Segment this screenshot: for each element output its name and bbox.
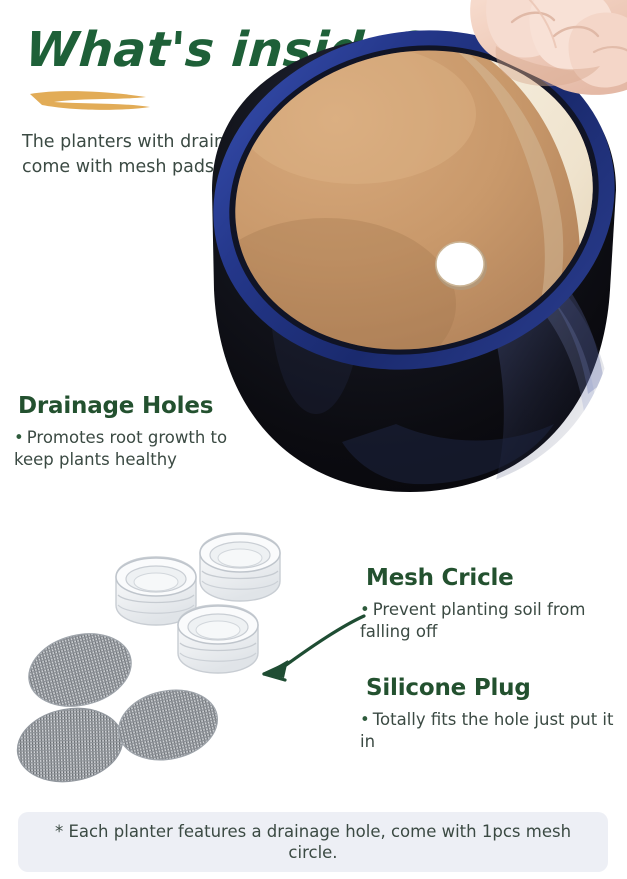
drainage-hole xyxy=(435,242,487,290)
planter-pot-photo xyxy=(196,0,627,524)
bullet-marker: • xyxy=(14,428,24,447)
mesh-circle-2 xyxy=(12,700,129,789)
section-heading-drainage-holes: Drainage Holes xyxy=(18,393,213,419)
section-bullet-silicone-plug: •Totally fits the hole just put it in xyxy=(360,709,615,753)
mesh-circle-1 xyxy=(21,623,139,716)
title-underline-swoosh xyxy=(28,86,158,114)
mesh-circle-3 xyxy=(112,681,224,768)
bullet-text: Totally fits the hole just put it in xyxy=(360,710,613,751)
section-heading-silicone-plug: Silicone Plug xyxy=(366,675,531,701)
bullet-marker: • xyxy=(360,710,370,729)
footer-note-text: * Each planter features a drainage hole,… xyxy=(18,821,608,864)
section-bullet-mesh-circle: •Prevent planting soil from falling off xyxy=(360,599,610,643)
section-heading-mesh-circle: Mesh Cricle xyxy=(366,565,514,591)
bullet-text: Promotes root growth to keep plants heal… xyxy=(14,428,227,469)
bullet-text: Prevent planting soil from falling off xyxy=(360,600,585,641)
footer-note-banner: * Each planter features a drainage hole,… xyxy=(18,812,608,872)
section-bullet-drainage-holes: •Promotes root growth to keep plants hea… xyxy=(14,427,239,471)
curved-arrow-icon xyxy=(238,598,373,693)
silicone-plug-2 xyxy=(200,533,280,601)
infographic-page: What's inside? The planters with drainag… xyxy=(0,0,627,879)
